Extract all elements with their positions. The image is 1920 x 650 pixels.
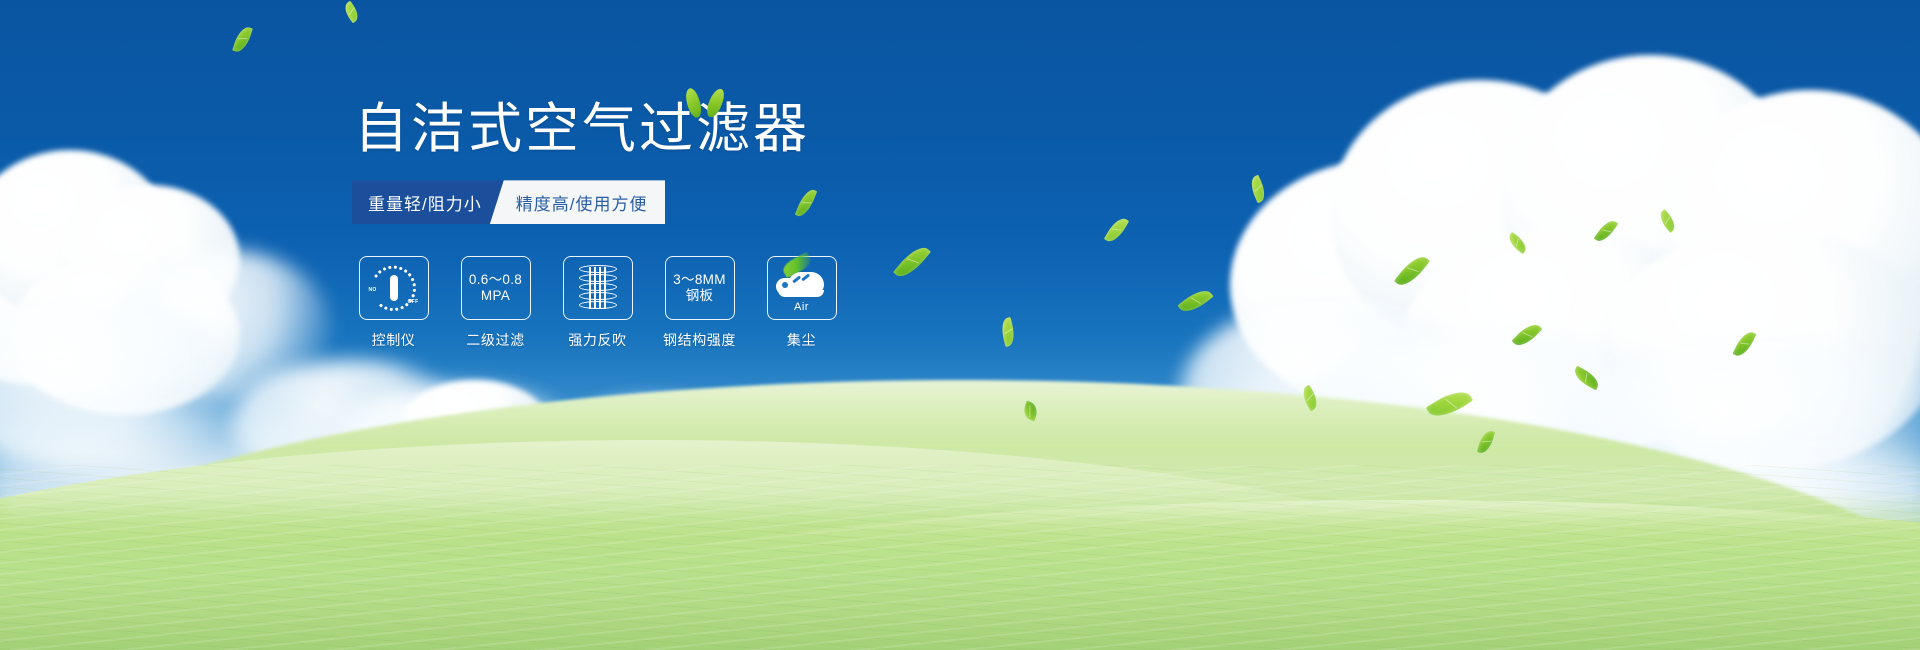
feature-label: 二级过滤 xyxy=(466,330,524,350)
sprout-leaf-right xyxy=(705,87,727,120)
badge-primary: 重量轻/阻力小 xyxy=(352,180,504,224)
dial-knob xyxy=(390,275,398,301)
cloud-base xyxy=(778,290,824,297)
feature-icon-box: 3～8MM 钢板 xyxy=(665,256,735,320)
feature-icon-box: 0.6～0.8 MPA xyxy=(461,256,531,320)
feature-label: 强力反吹 xyxy=(568,330,626,350)
feature-item-blowback: 强力反吹 xyxy=(560,256,635,350)
feature-label: 控制仪 xyxy=(372,330,416,350)
feature-item-dust: Air 集尘 xyxy=(764,256,839,350)
coil-filter-icon xyxy=(579,265,617,311)
dial-on-label: NO xyxy=(369,287,377,293)
feature-icon-box xyxy=(563,256,633,320)
feature-box-line2: 钢板 xyxy=(686,288,714,304)
feature-label: 钢结构强度 xyxy=(663,330,736,350)
banner-content: 自洁式空气过滤器 重量轻/阻力小 精度高/使用方便 xyxy=(350,100,1050,350)
feature-box-line2: MPA xyxy=(481,288,510,304)
badge-secondary: 精度高/使用方便 xyxy=(490,180,666,224)
feature-list: NO OFF 控制仪 0.6～0.8 MPA 二级过滤 xyxy=(356,256,1050,350)
feature-icon-box: NO OFF xyxy=(359,256,429,320)
dial-off-label: OFF xyxy=(408,299,419,305)
sprout-icon xyxy=(687,88,727,122)
feature-item-pressure: 0.6～0.8 MPA 二级过滤 xyxy=(458,256,533,350)
feature-icon-box: Air xyxy=(767,256,837,320)
tagline-badges: 重量轻/阻力小 精度高/使用方便 xyxy=(352,180,676,224)
feature-box-line1: 0.6～0.8 xyxy=(469,272,522,288)
product-hero-banner: 自洁式空气过滤器 重量轻/阻力小 精度高/使用方便 xyxy=(0,0,1920,650)
control-dial-icon: NO OFF xyxy=(369,266,419,310)
feature-item-steel: 3～8MM 钢板 钢结构强度 xyxy=(662,256,737,350)
feature-item-control: NO OFF 控制仪 xyxy=(356,256,431,350)
ground-haze xyxy=(0,440,1920,530)
air-label: Air xyxy=(776,301,828,313)
feature-box-line1: 3～8MM xyxy=(673,272,726,288)
feature-label: 集尘 xyxy=(787,330,816,350)
air-cloud-icon: Air xyxy=(776,266,828,310)
